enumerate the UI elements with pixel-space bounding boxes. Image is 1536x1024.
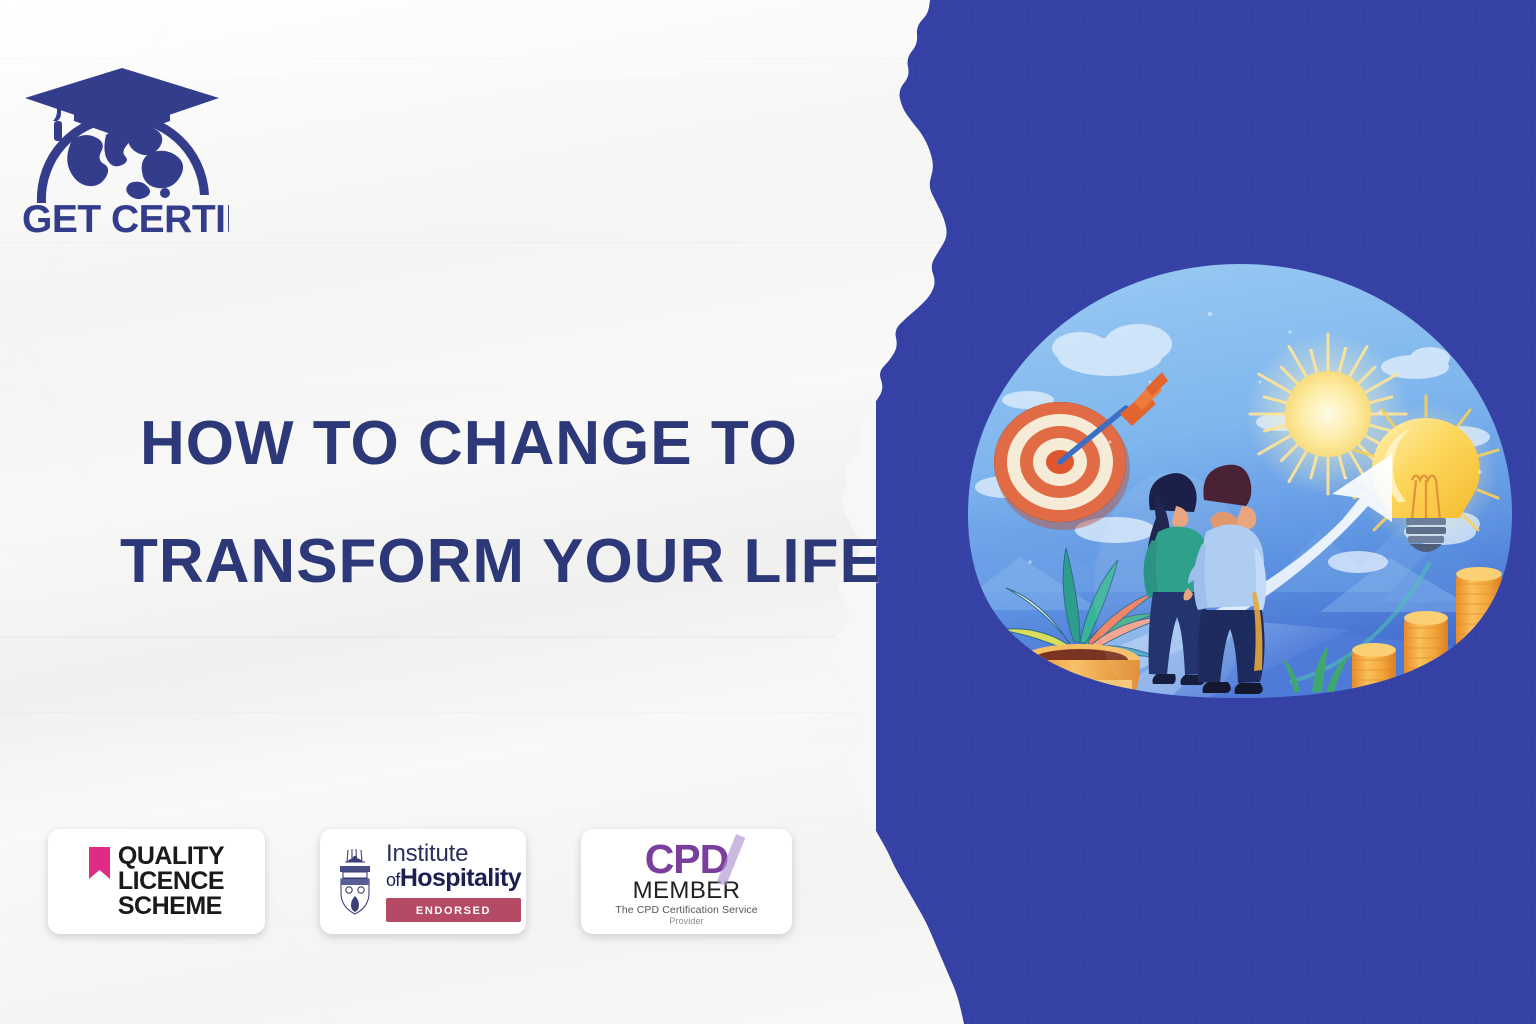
accreditation-badge-strip: QUALITY LICENCE SCHEME xyxy=(48,829,792,934)
brand-logo[interactable]: GET CERTIFY xyxy=(14,35,229,240)
illustration-dome xyxy=(960,262,1520,742)
qls-line-1: QUALITY xyxy=(118,844,224,869)
logo-wordmark: GET CERTIFY xyxy=(22,198,229,235)
couple-looking-at-future-illustration xyxy=(960,262,1520,742)
qls-line-2: LICENCE xyxy=(118,869,224,894)
cpd-acronym: CPD xyxy=(645,836,729,882)
poster-canvas: GET CERTIFY HOW TO CHANGE TO TRANSFORM Y… xyxy=(0,0,1536,1024)
ioh-endorsed-label: ENDORSED xyxy=(416,905,491,917)
headline-line-2: TRANSFORM YOUR LIFE xyxy=(120,503,840,621)
ioh-endorsed-band: ENDORSED xyxy=(386,898,521,922)
ioh-line-1: Institute xyxy=(386,842,521,865)
bookmark-icon xyxy=(89,847,110,879)
graduation-cap-globe-icon: GET CERTIFY xyxy=(14,35,229,235)
cpd-subtitle: The CPD Certification Service xyxy=(591,904,782,916)
ioh-line-2: Hospitality xyxy=(400,864,521,892)
qls-line-3: SCHEME xyxy=(118,894,224,919)
ioh-of: of xyxy=(386,870,400,890)
badge-quality-licence-scheme[interactable]: QUALITY LICENCE SCHEME xyxy=(48,829,265,934)
coin-jar xyxy=(992,688,1056,742)
badge-cpd-member[interactable]: CPD MEMBER The CPD Certification Service… xyxy=(581,829,792,934)
cpd-subtitle-2: Provider xyxy=(591,916,782,926)
badge-institute-of-hospitality[interactable]: Institute ofHospitality ENDORSED xyxy=(320,829,526,934)
headline-line-1: HOW TO CHANGE TO xyxy=(140,385,840,503)
heraldic-crest-icon xyxy=(334,848,376,916)
page-title: HOW TO CHANGE TO TRANSFORM YOUR LIFE xyxy=(140,385,840,621)
